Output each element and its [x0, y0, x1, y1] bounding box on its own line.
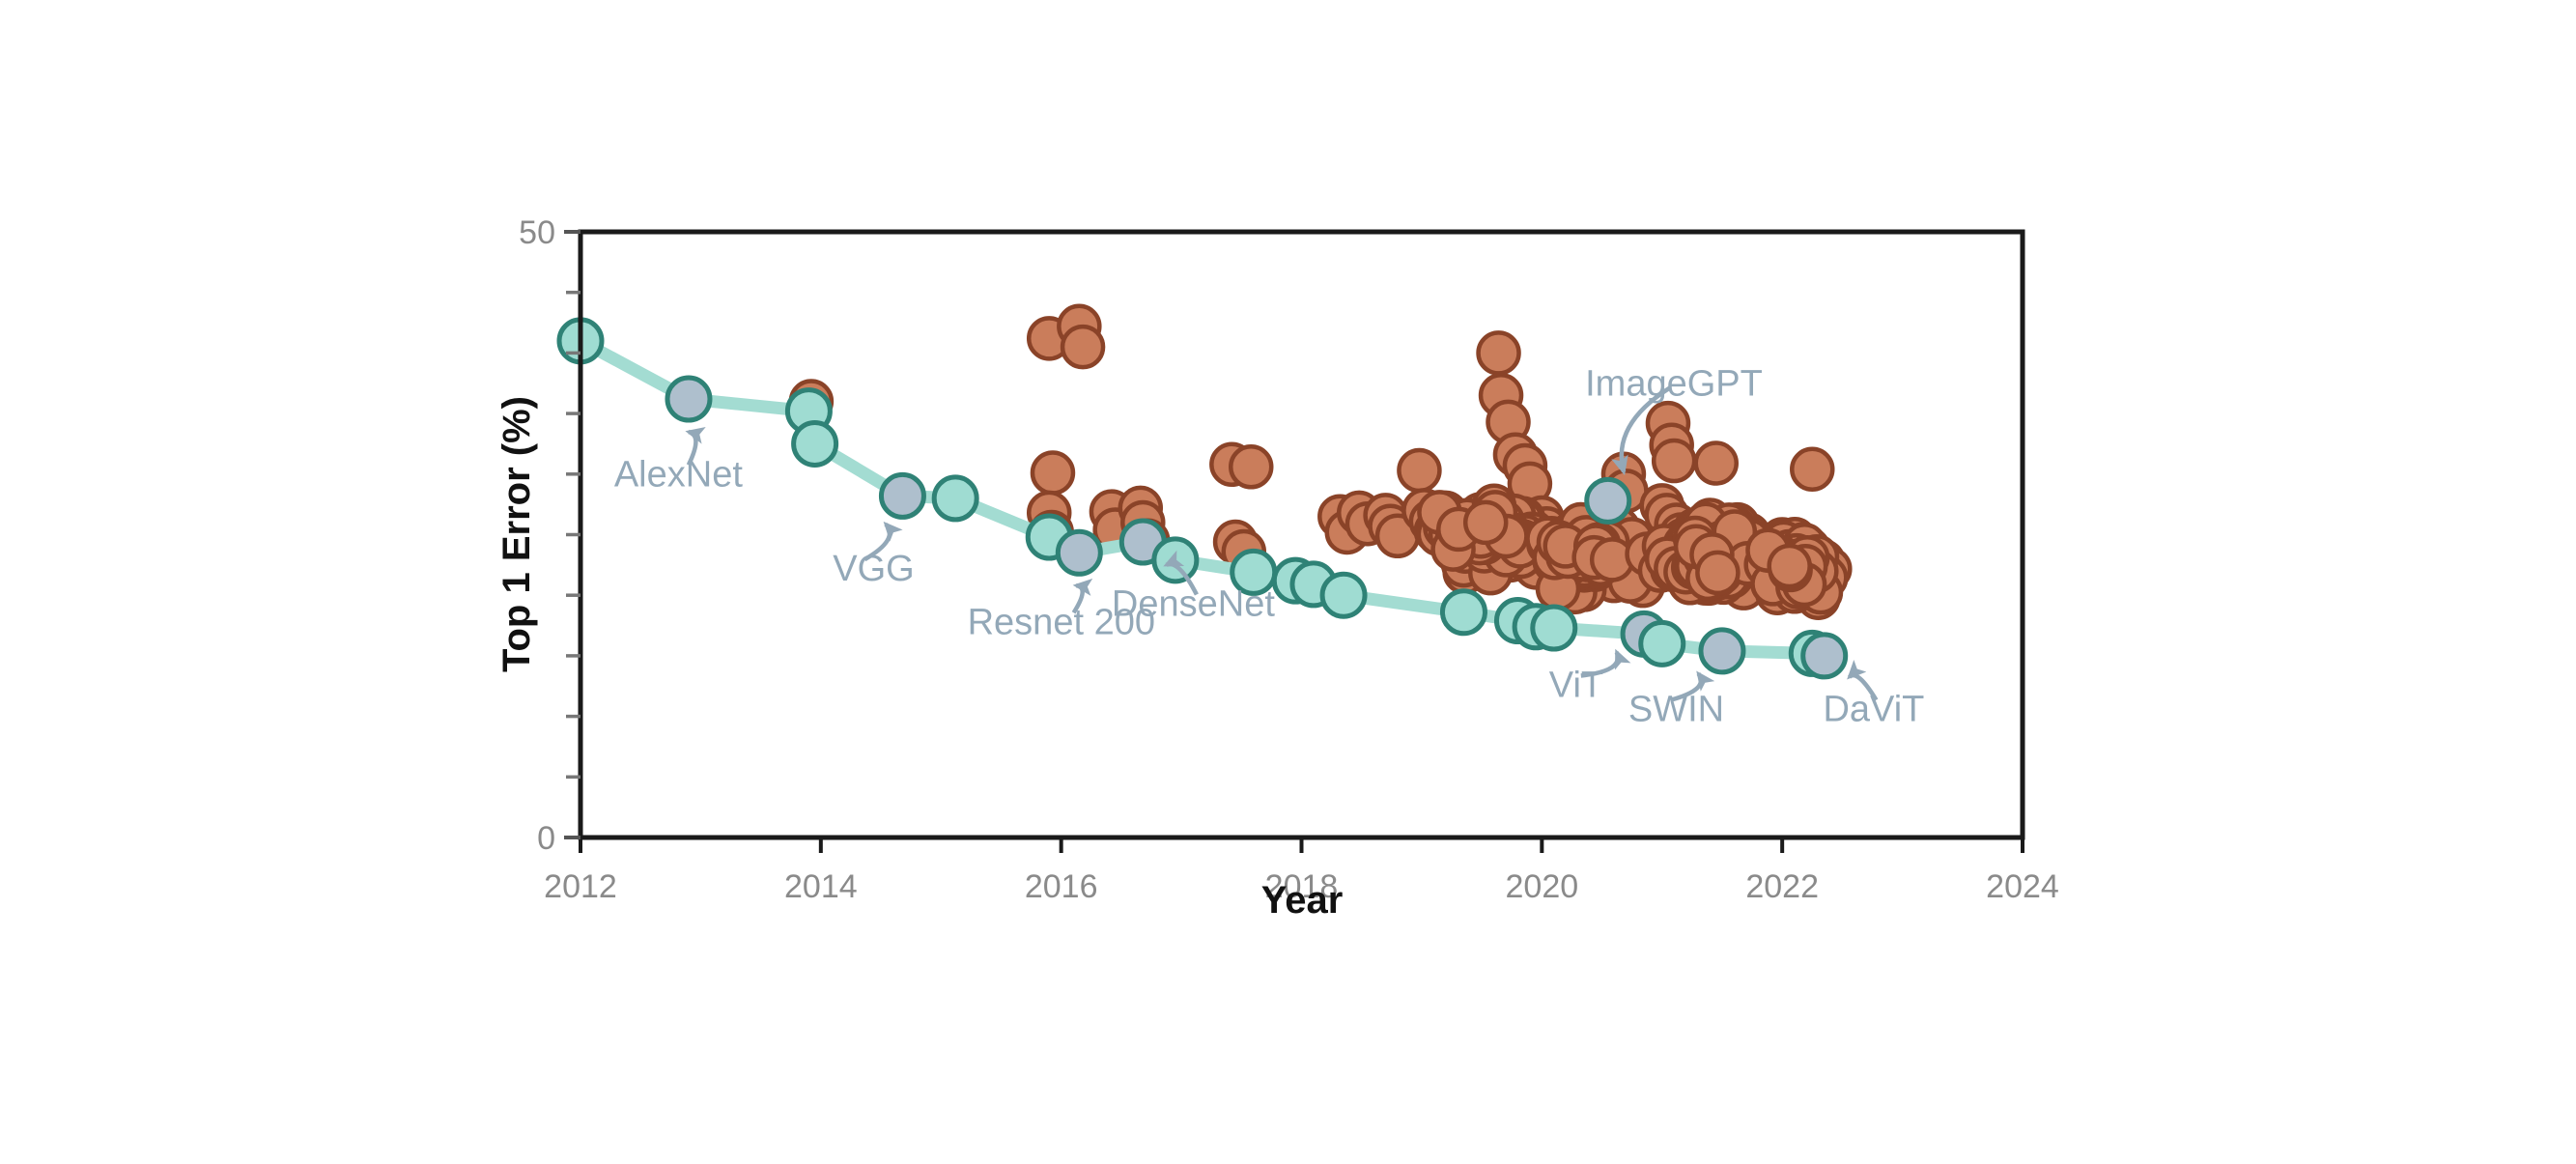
sota-highlighted-marker	[1058, 531, 1100, 574]
sota-marker	[1641, 622, 1684, 665]
scatter-point	[1654, 440, 1694, 481]
sota-marker	[1533, 607, 1575, 649]
scatter-point	[1399, 450, 1439, 491]
annotation-label-imagegpt: ImageGPT	[1585, 363, 1763, 404]
sota-marker	[1154, 539, 1197, 582]
sota-highlighted-marker	[881, 474, 923, 517]
chart-figure: AlexNetVGGResnet 200DenseNetImageGPTViTS…	[0, 0, 2576, 1164]
scatter-point	[1033, 453, 1073, 494]
x-tick-label: 2024	[1986, 868, 2059, 905]
sota-highlighted-marker	[1701, 630, 1743, 672]
scatter-point	[1696, 443, 1737, 484]
x-tick-label: 2014	[784, 868, 858, 905]
annotation-label-alexnet: AlexNet	[614, 454, 743, 495]
x-tick-label: 2022	[1745, 868, 1819, 905]
top1-error-vs-year-scatter-chart: AlexNetVGGResnet 200DenseNetImageGPTViTS…	[0, 0, 2576, 1164]
sota-marker	[794, 422, 836, 465]
scatter-point	[1231, 446, 1271, 487]
scatter-point	[1465, 502, 1506, 543]
scatter-point	[1479, 332, 1519, 373]
y-tick-label: 0	[537, 820, 555, 857]
sota-marker	[934, 477, 977, 520]
sota-marker	[1322, 574, 1365, 616]
y-tick-label: 50	[519, 214, 555, 251]
x-tick-label: 2012	[544, 868, 617, 905]
scatter-point	[1769, 546, 1810, 586]
x-axis-title: Year	[1261, 879, 1344, 922]
x-tick-label: 2020	[1506, 868, 1579, 905]
x-tick-label: 2016	[1025, 868, 1098, 905]
scatter-point	[1792, 449, 1832, 490]
sota-highlighted-marker	[1587, 479, 1629, 522]
y-axis-title: Top 1 Error (%)	[495, 396, 538, 672]
scatter-point	[1062, 326, 1103, 367]
sota-marker	[1442, 591, 1485, 634]
sota-highlighted-marker	[1803, 635, 1846, 677]
sota-highlighted-marker	[667, 378, 710, 420]
annotation-label-vit: ViT	[1549, 666, 1603, 706]
annotation-label-swin: SWIN	[1628, 690, 1724, 730]
scatter-point	[1697, 553, 1738, 593]
